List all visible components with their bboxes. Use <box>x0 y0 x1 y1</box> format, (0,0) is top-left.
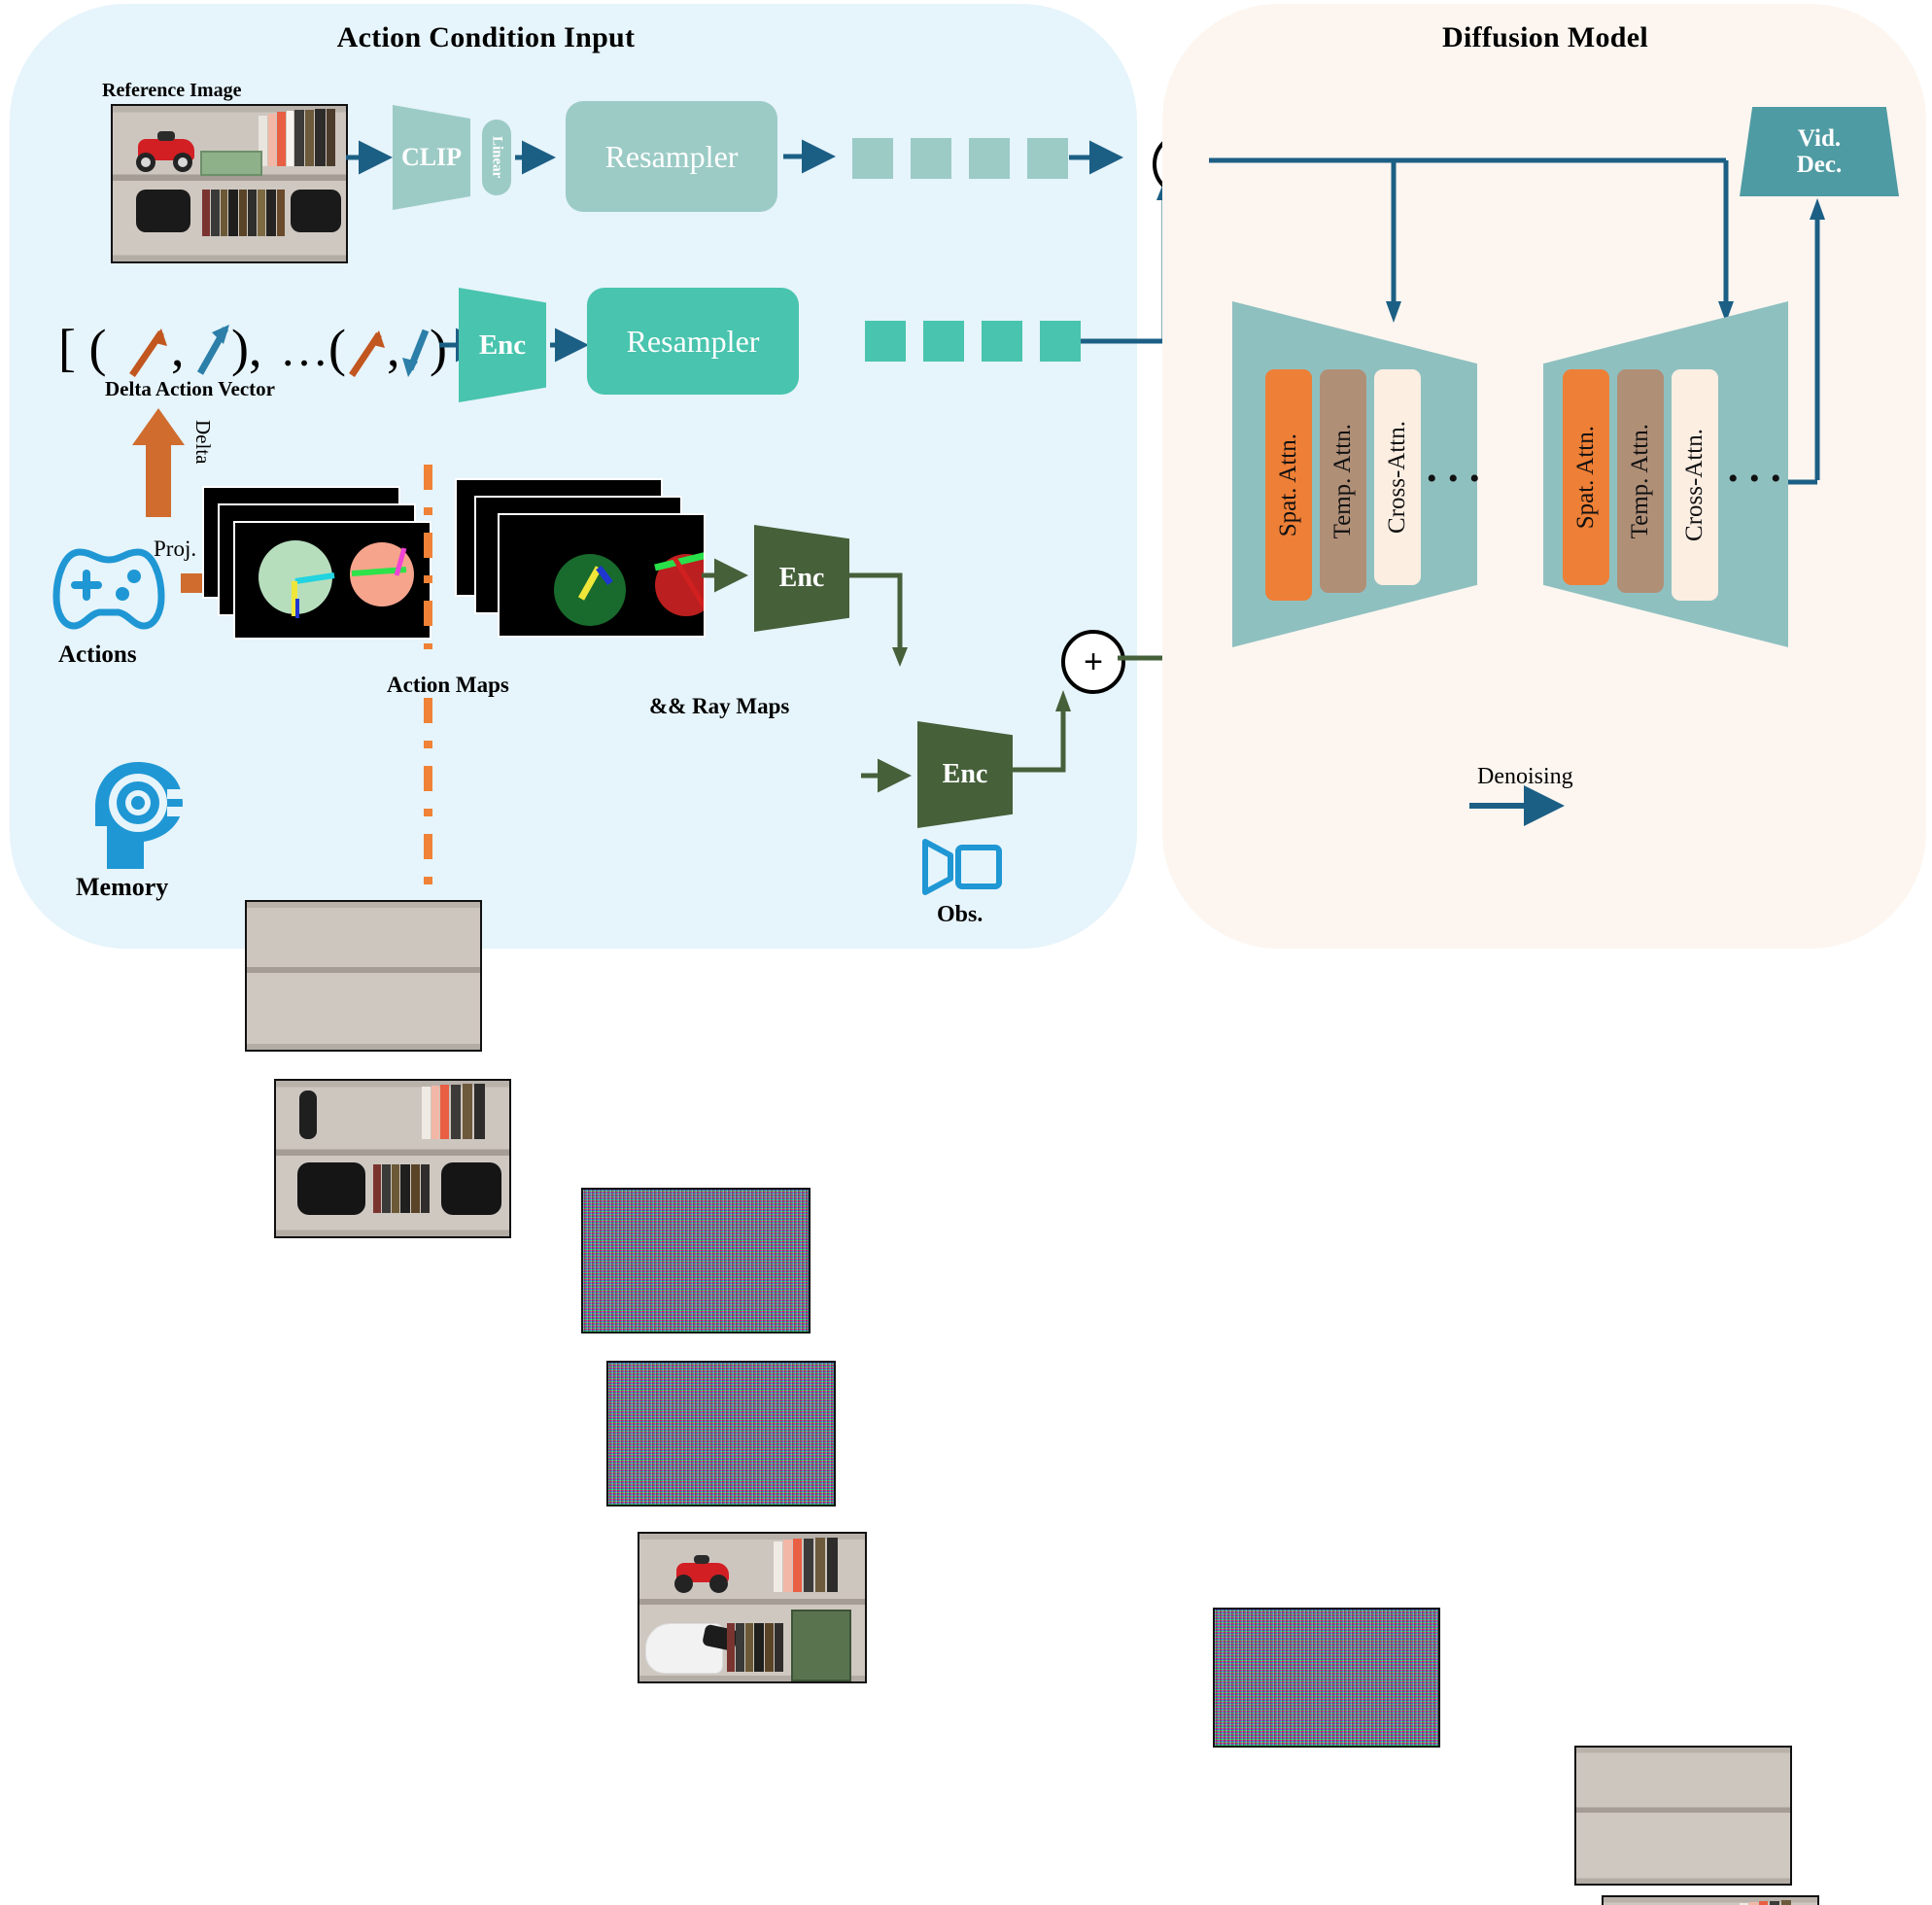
video-decoder-block: Vid. Dec. <box>1740 107 1899 196</box>
clip-encoder-block: CLIP <box>393 105 470 210</box>
enc-obs-label: Enc <box>943 759 988 790</box>
image-token-4 <box>1027 138 1068 179</box>
cross-attention-label-1: Cross-Attn. <box>1384 421 1411 534</box>
arrow-resampler-to-image-tokens <box>783 145 842 168</box>
delta-action-vector-label: Delta Action Vector <box>105 377 275 401</box>
temporal-attention-label-1: Temp. Attn. <box>1329 424 1357 538</box>
noisy-latent-image <box>1213 1608 1440 1748</box>
linear-block: Linear <box>482 120 511 195</box>
obs-label: Obs. <box>937 902 983 928</box>
action-token-1 <box>865 321 906 362</box>
enc-raymaps-label: Enc <box>779 563 825 594</box>
arrow-enc-raymaps-to-sum <box>844 571 925 678</box>
ray-maps-label: && Ray Maps <box>649 694 789 719</box>
delta-arrow-label: Delta <box>190 420 215 464</box>
arrow-obs-to-enc <box>861 764 921 787</box>
image-token-1 <box>852 138 893 179</box>
actions-label: Actions <box>58 641 137 669</box>
svg-text:[ (: [ ( <box>58 319 106 377</box>
svg-text:,: , <box>171 319 185 377</box>
cross-attention-block-2[interactable]: Cross-Attn. <box>1672 369 1718 601</box>
svg-text:(: ( <box>328 319 346 377</box>
reference-image-photo <box>111 104 348 263</box>
arrow-unet-to-video-decoder <box>1784 192 1843 484</box>
obs-noise-frame-mid <box>606 1361 836 1507</box>
svg-text:,: , <box>387 319 400 377</box>
reference-image-label: Reference Image <box>102 80 241 102</box>
unet-ellipsis-1: • • • <box>1427 463 1482 496</box>
spatial-attention-block-2[interactable]: Spat. Attn. <box>1563 369 1609 585</box>
action-token-3 <box>982 321 1022 362</box>
gamepad-icon <box>51 544 167 634</box>
unet-ellipsis-2: • • • <box>1728 463 1783 496</box>
cross-attention-label-2: Cross-Attn. <box>1681 429 1708 541</box>
delta-arrow <box>128 408 189 520</box>
temporal-attention-block-2[interactable]: Temp. Attn. <box>1617 369 1664 593</box>
action-token-2 <box>923 321 964 362</box>
image-token-3 <box>969 138 1010 179</box>
arrow-raymaps-to-enc <box>702 564 756 587</box>
memory-photo-front <box>274 1079 511 1238</box>
resampler-image-label: Resampler <box>605 139 739 175</box>
latent-sum-symbol: + <box>1084 645 1103 678</box>
svg-text:),: ), <box>231 319 261 377</box>
arrow-refimage-to-clip <box>346 146 395 169</box>
enc-action-label: Enc <box>479 329 526 362</box>
spatial-attention-block-1[interactable]: Spat. Attn. <box>1265 369 1312 601</box>
proj-label: Proj. <box>154 537 196 562</box>
enc-raymaps-block: Enc <box>754 525 849 632</box>
arrow-image-tokens-to-sum <box>1069 146 1129 169</box>
arrow-linear-to-resampler <box>515 146 560 169</box>
enc-obs-block: Enc <box>917 721 1013 828</box>
obs-photo-front <box>638 1532 867 1683</box>
memory-label: Memory <box>76 873 168 902</box>
temporal-attention-block-1[interactable]: Temp. Attn. <box>1320 369 1366 593</box>
action-token-4 <box>1040 321 1081 362</box>
arrow-enc-obs-to-sum <box>1007 686 1094 779</box>
resampler-action-label: Resampler <box>627 324 760 360</box>
delta-action-vector-expression: [ ( , ), … ( , ) ] <box>58 309 466 387</box>
cross-attention-block-1[interactable]: Cross-Attn. <box>1374 369 1421 585</box>
denoised-frame-back <box>1574 1746 1792 1886</box>
spatial-attention-label-2: Spat. Attn. <box>1572 426 1600 529</box>
action-maps-label: Action Maps <box>387 673 509 698</box>
resampler-action-block: Resampler <box>587 288 799 395</box>
linear-label: Linear <box>489 136 505 178</box>
clip-label: CLIP <box>401 143 462 172</box>
spatial-attention-label-1: Spat. Attn. <box>1275 433 1302 537</box>
video-decoder-label-1: Vid. <box>1798 125 1841 153</box>
image-token-2 <box>911 138 951 179</box>
right-panel-title: Diffusion Model <box>1351 21 1740 54</box>
video-decoder-label-2: Dec. <box>1797 152 1843 179</box>
svg-text:…: … <box>280 322 328 376</box>
arrow-denoising <box>1469 793 1576 818</box>
separator-bottom <box>424 698 432 923</box>
memory-photo-back <box>245 900 482 1052</box>
obs-noise-frame-back <box>581 1188 811 1333</box>
separator-top <box>424 465 432 649</box>
denoising-label: Denoising <box>1477 764 1573 790</box>
temporal-attention-label-2: Temp. Attn. <box>1627 424 1654 538</box>
ray-map-frame-front <box>498 513 706 638</box>
left-panel-title: Action Condition Input <box>292 21 680 54</box>
enc-action-block: Enc <box>459 288 546 402</box>
memory-icon <box>89 758 189 873</box>
camera-icon <box>921 838 1003 896</box>
action-map-frame-front <box>233 521 431 640</box>
denoised-frame-front <box>1602 1895 1819 1905</box>
resampler-image-block: Resampler <box>566 101 777 212</box>
